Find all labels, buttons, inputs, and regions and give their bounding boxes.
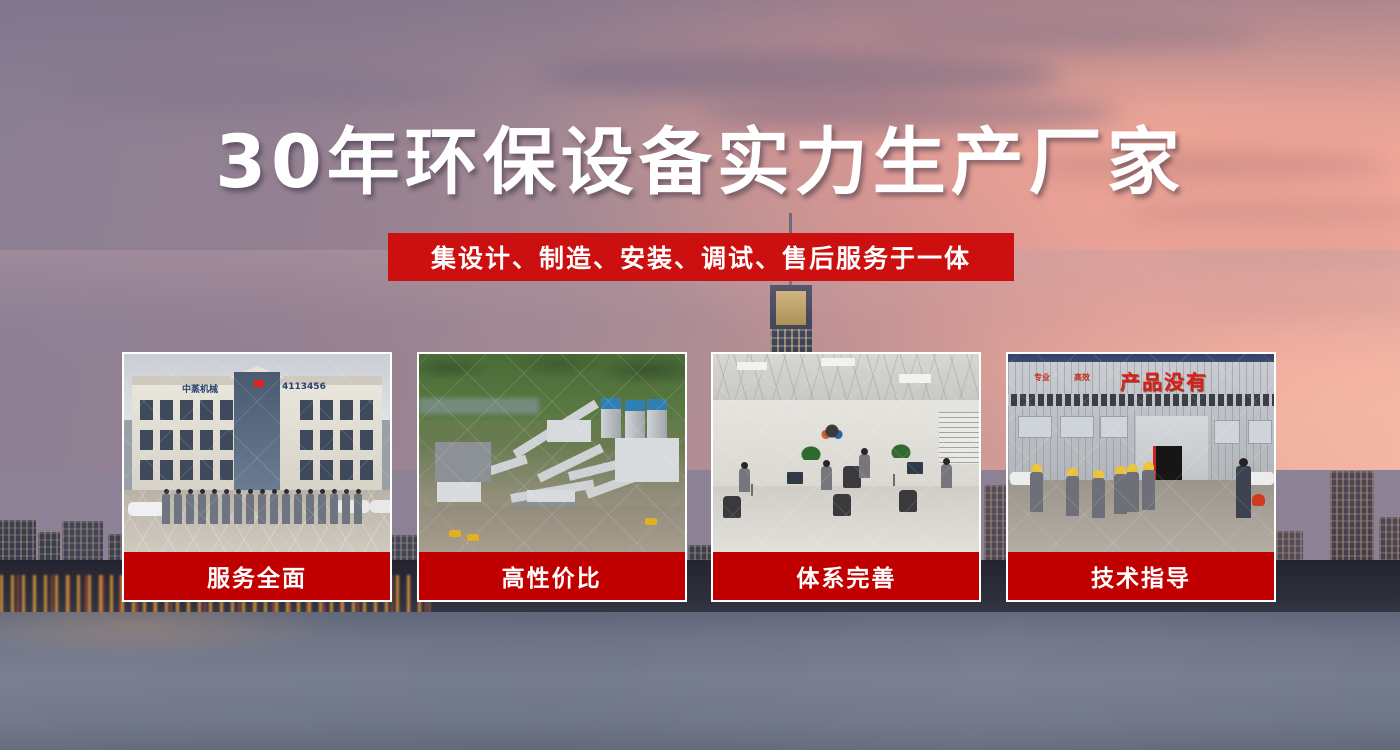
office-mon — [787, 472, 803, 484]
building-window — [160, 460, 173, 480]
building-window — [140, 430, 153, 450]
building-window — [220, 460, 233, 480]
office-pers — [859, 454, 870, 478]
worker-with-hardhat — [1126, 472, 1139, 512]
feature-card-row: 中蒸机械 4113456 服务全面 — [122, 352, 1276, 602]
building-window — [180, 400, 193, 420]
factory-window — [1018, 416, 1052, 438]
staff-person — [354, 494, 362, 524]
building-window — [200, 400, 213, 420]
staff-person — [258, 494, 266, 524]
plant-building — [615, 438, 679, 482]
building-window — [140, 460, 153, 480]
staff-person — [210, 494, 218, 524]
office-chair — [833, 494, 851, 516]
building-window — [300, 400, 313, 420]
office-mon — [907, 462, 923, 474]
office-chair — [723, 496, 741, 518]
building-window — [200, 430, 213, 450]
office-pers — [941, 464, 952, 488]
staff-person — [162, 494, 170, 524]
card-photo-factory-workers: 产品没有 专业 高效 — [1008, 354, 1274, 552]
staff-person — [222, 494, 230, 524]
worker-with-hardhat — [1066, 476, 1079, 516]
staff-person — [234, 494, 242, 524]
banner-subtitle-band: 集设计、制造、安装、调试、售后服务于一体 — [388, 233, 1014, 281]
staff-person — [294, 494, 302, 524]
worker-with-hardhat — [1030, 472, 1043, 512]
card-photo-office-interior — [713, 354, 979, 552]
card-photo-headquarters: 中蒸机械 4113456 — [124, 354, 390, 552]
building-signage: 中蒸机械 4113456 — [164, 382, 354, 394]
card-label-text: 高性价比 — [502, 559, 602, 593]
building-window — [180, 430, 193, 450]
factory-window — [1248, 420, 1272, 444]
building-window — [320, 430, 333, 450]
office-chair — [899, 490, 917, 512]
building-window — [360, 430, 373, 450]
river-sheen — [0, 612, 1400, 750]
staff-person — [174, 494, 182, 524]
staff-person — [282, 494, 290, 524]
building-window — [300, 430, 313, 450]
storage-silo — [647, 399, 667, 439]
building-window — [320, 460, 333, 480]
building-window — [340, 460, 353, 480]
staff-person — [270, 494, 278, 524]
worker-with-hardhat — [1142, 470, 1155, 510]
plant-shed — [435, 442, 491, 482]
card-label-text: 服务全面 — [207, 559, 307, 593]
building-signage-text: 中蒸机械 — [182, 382, 218, 395]
factory-signage-small-left: 专业 — [1034, 372, 1050, 383]
building-window — [340, 400, 353, 420]
storage-silo — [601, 398, 621, 438]
staff-person — [306, 494, 314, 524]
feature-card[interactable]: 产品没有 专业 高效 技术指导 — [1006, 352, 1276, 602]
building-window — [180, 460, 193, 480]
staff-person — [198, 494, 206, 524]
factory-window — [1060, 416, 1094, 438]
building-window — [360, 460, 373, 480]
factory-window — [1214, 420, 1240, 444]
staff-person — [246, 494, 254, 524]
banner-subtitle-text: 集设计、制造、安装、调试、售后服务于一体 — [431, 239, 971, 275]
factory-signage-small-right: 高效 — [1074, 372, 1090, 383]
feature-card[interactable]: 中蒸机械 4113456 服务全面 — [122, 352, 392, 602]
storage-silo — [625, 400, 645, 440]
factory-signage-text: 产品没有 — [1120, 366, 1208, 395]
building-window — [220, 400, 233, 420]
feature-card[interactable]: 高性价比 — [417, 352, 687, 602]
factory-window — [1100, 416, 1128, 438]
building-window — [340, 430, 353, 450]
building-window — [140, 400, 153, 420]
staff-person — [318, 494, 326, 524]
office-pers — [739, 468, 750, 492]
feature-card[interactable]: 体系完善 — [711, 352, 981, 602]
building-window — [220, 430, 233, 450]
card-label-band: 高性价比 — [419, 552, 685, 600]
building-phone-number: 4113456 — [282, 382, 326, 392]
card-label-text: 体系完善 — [796, 559, 896, 593]
plant-building — [547, 420, 591, 442]
office-plant — [891, 444, 911, 458]
office-plant — [801, 446, 821, 460]
staff-person — [186, 494, 194, 524]
card-label-text: 技术指导 — [1091, 559, 1191, 593]
building-window — [160, 400, 173, 420]
promo-banner: 30年环保设备实力生产厂家 集设计、制造、安装、调试、售后服务于一体 中蒸机械 … — [0, 0, 1400, 750]
building-window — [320, 400, 333, 420]
card-label-band: 体系完善 — [713, 552, 979, 600]
staff-person — [342, 494, 350, 524]
building-window — [160, 430, 173, 450]
building-window — [300, 460, 313, 480]
building-window — [200, 460, 213, 480]
card-label-band: 技术指导 — [1008, 552, 1274, 600]
card-photo-industrial-plant — [419, 354, 685, 552]
card-label-band: 服务全面 — [124, 552, 390, 600]
worker-with-hardhat — [1092, 478, 1105, 518]
building-window — [360, 400, 373, 420]
office-pers — [821, 466, 832, 490]
banner-headline: 30年环保设备实力生产厂家 — [0, 126, 1400, 199]
staff-person — [330, 494, 338, 524]
